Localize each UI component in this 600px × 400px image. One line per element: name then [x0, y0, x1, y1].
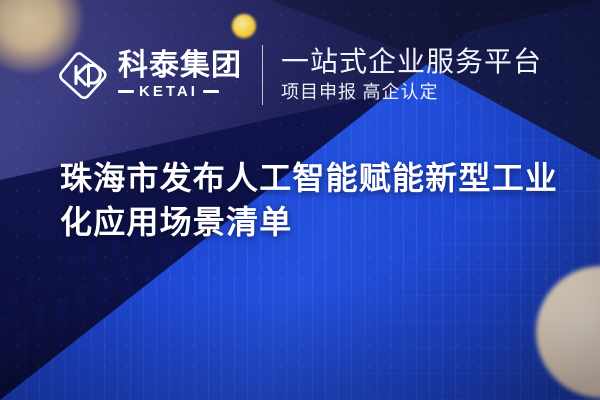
header-divider	[262, 45, 263, 105]
brand-wordmark: 科泰集团 KETAI	[118, 50, 242, 100]
tagline-main: 一站式企业服务平台	[281, 47, 542, 78]
brand-name-en-row: KETAI	[118, 83, 242, 100]
brand-name-cn: 科泰集团	[118, 50, 242, 81]
headline: 珠海市发布人工智能赋能新型工业化应用场景清单	[60, 156, 560, 244]
ketai-kd-monogram-icon	[58, 50, 108, 100]
wordmark-rule-left	[118, 90, 134, 93]
wordmark-rule-right	[203, 90, 219, 93]
tagline-block: 一站式企业服务平台 项目申报 高企认定	[281, 47, 542, 103]
brand-name-en: KETAI	[139, 83, 198, 100]
brand-header: 科泰集团 KETAI 一站式企业服务平台 项目申报 高企认定	[58, 42, 542, 108]
promo-banner: 科泰集团 KETAI 一站式企业服务平台 项目申报 高企认定 珠海市发布人工智能…	[0, 0, 600, 400]
tagline-sub: 项目申报 高企认定	[281, 83, 542, 103]
